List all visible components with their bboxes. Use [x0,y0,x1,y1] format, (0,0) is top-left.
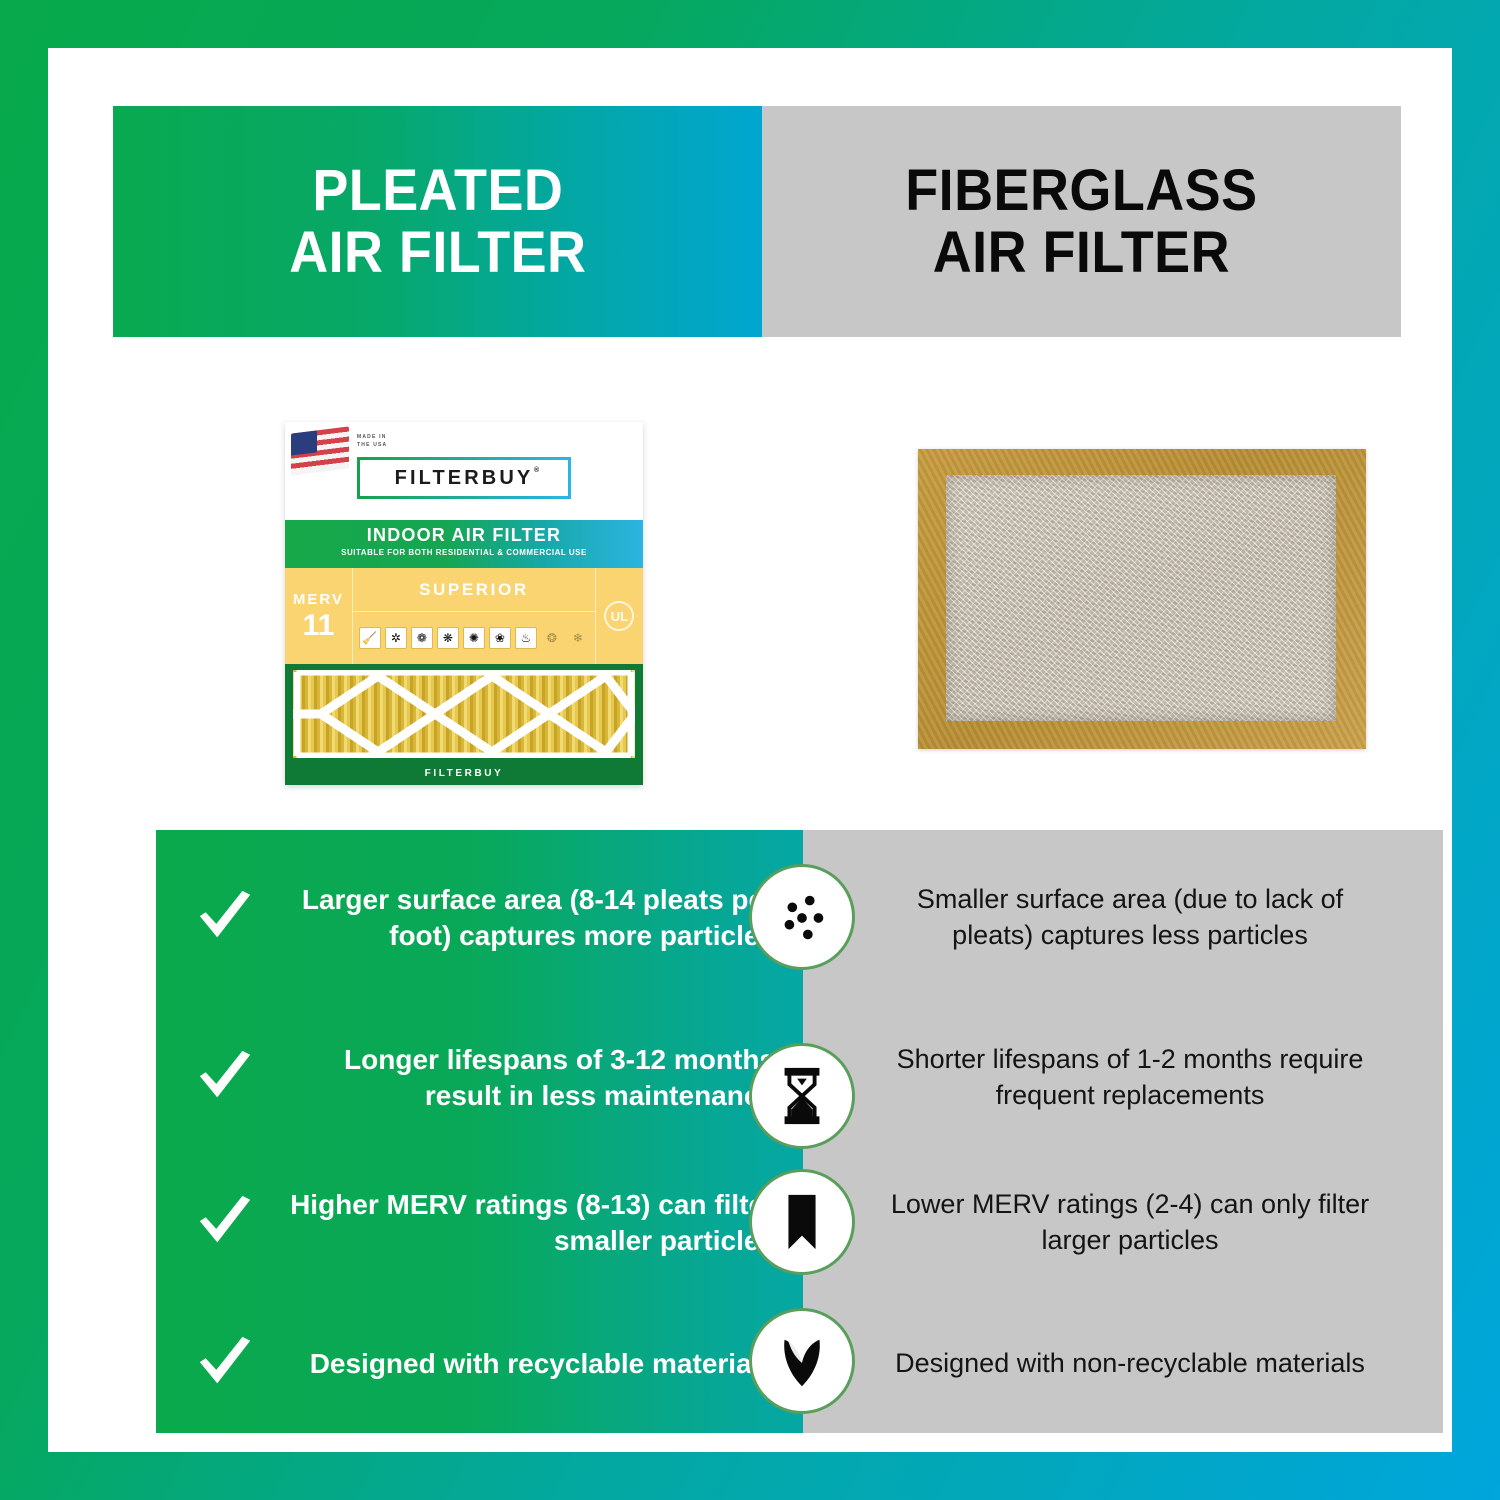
header-pleated: PLEATED AIR FILTER [113,106,762,337]
filterbuy-logo-box: FILTERBUY® [357,457,571,499]
box-pleat-window: FILTERBUY [285,664,643,785]
bacteria-icon: ✺ [463,627,485,649]
infographic-canvas: PLEATED AIR FILTER FIBERGLASS AIR FILTER… [48,48,1452,1452]
trademark-symbol: ® [534,467,542,474]
smoke-icon: ♨ [515,627,537,649]
filterbuy-logo-text: FILTERBUY® [395,467,534,490]
header-bands: PLEATED AIR FILTER FIBERGLASS AIR FILTER [113,106,1401,337]
comparison-panel: Larger surface area (8-14 pleats per foo… [156,830,1443,1433]
particles-icon-badge [749,864,855,970]
check-icon [194,1047,256,1109]
ul-certification-icon: UL [604,601,634,631]
bookmark-icon-badge [749,1169,855,1275]
box-tier-column: SUPERIOR 🧹 ✲ ❁ ❋ ✺ ❀ ♨ ❂ ❄ [353,568,595,664]
header-pleated-line1: PLEATED [289,160,586,221]
fiberglass-drawback-text: Designed with non-recyclable materials [875,1346,1385,1381]
comparison-row-pleated: Designed with recyclable materials [156,1295,803,1433]
fiberglass-filter-product-image [918,449,1366,749]
made-in-line1: MADE IN [357,433,387,441]
pleated-benefit-text: Longer lifespans of 3-12 months result i… [272,1042,783,1114]
bookmark-icon [771,1191,833,1253]
made-in-line2: THE USA [357,441,387,449]
box-band-title: INDOOR AIR FILTER [285,525,643,546]
gold-pleat-media [293,670,635,758]
smog-icon-faded: ❄ [567,627,589,649]
feature-icon-strip: 🧹 ✲ ❁ ❋ ✺ ❀ ♨ ❂ ❄ [353,612,595,664]
certification-area: UL [595,568,643,664]
dust-mite-icon: ✲ [385,627,407,649]
box-footer-brand: FILTERBUY [285,768,643,779]
comparison-row-fiberglass: Lower MERV ratings (2-4) can only filter… [803,1150,1443,1295]
fiberglass-drawback-text: Lower MERV ratings (2-4) can only filter… [875,1187,1385,1257]
box-band-subtitle: SUITABLE FOR BOTH RESIDENTIAL & COMMERCI… [285,548,643,557]
pollen-icon: ❁ [411,627,433,649]
merv-value: 11 [303,611,335,641]
box-header: MADE IN THE USA FILTERBUY® [285,422,643,520]
leaf-recycle-icon-badge [749,1308,855,1414]
pleated-benefit-text: Designed with recyclable materials [272,1346,783,1382]
mold-spore-icon: ❋ [437,627,459,649]
comparison-row-fiberglass: Smaller surface area (due to lack of ple… [803,830,1443,1005]
box-product-band: INDOOR AIR FILTER SUITABLE FOR BOTH RESI… [285,520,643,568]
product-images-row: MADE IN THE USA FILTERBUY® INDOOR AIR FI… [113,337,1401,782]
comparison-row-pleated: Larger surface area (8-14 pleats per foo… [156,830,803,1005]
check-icon [194,887,256,949]
fiberglass-mesh-media [946,475,1336,721]
header-fiberglass-title: FIBERGLASS AIR FILTER [905,160,1257,283]
check-icon [194,1333,256,1395]
comparison-row-pleated: Longer lifespans of 3-12 months result i… [156,1005,803,1150]
pleated-benefit-text: Larger surface area (8-14 pleats per foo… [272,882,783,954]
pet-dander-icon: ❀ [489,627,511,649]
virus-icon-faded: ❂ [541,627,563,649]
pleated-filter-product-image: MADE IN THE USA FILTERBUY® INDOOR AIR FI… [285,422,643,785]
check-icon [194,1192,256,1254]
box-merv-section: MERV 11 SUPERIOR 🧹 ✲ ❁ ❋ ✺ ❀ ♨ [285,568,643,664]
pleated-benefit-text: Higher MERV ratings (8-13) can filter sm… [272,1187,783,1259]
header-fiberglass-line1: FIBERGLASS [905,160,1257,221]
vacuum-dust-icon: 🧹 [359,627,381,649]
usa-flag-icon [291,426,349,475]
made-in-usa-label: MADE IN THE USA [357,433,387,449]
hourglass-icon [771,1065,833,1127]
comparison-row-fiberglass: Designed with non-recyclable materials [803,1295,1443,1433]
particles-icon [771,886,833,948]
header-fiberglass: FIBERGLASS AIR FILTER [762,106,1401,337]
header-fiberglass-line2: AIR FILTER [905,222,1257,283]
merv-badge: MERV 11 [285,568,353,664]
comparison-row-fiberglass: Shorter lifespans of 1-2 months require … [803,1005,1443,1150]
outer-gradient-frame: PLEATED AIR FILTER FIBERGLASS AIR FILTER… [0,0,1500,1500]
fiberglass-drawback-text: Smaller surface area (due to lack of ple… [875,882,1385,952]
header-pleated-title: PLEATED AIR FILTER [289,160,586,283]
white-lattice-grid-icon [293,670,635,758]
fiberglass-drawback-text: Shorter lifespans of 1-2 months require … [875,1042,1385,1112]
tier-label: SUPERIOR [353,568,595,612]
brand-name: FILTERBUY [395,467,534,489]
leaf-recycle-icon [771,1330,833,1392]
header-pleated-line2: AIR FILTER [289,222,586,283]
merv-label: MERV [293,592,344,607]
hourglass-icon-badge [749,1043,855,1149]
comparison-row-pleated: Higher MERV ratings (8-13) can filter sm… [156,1150,803,1295]
